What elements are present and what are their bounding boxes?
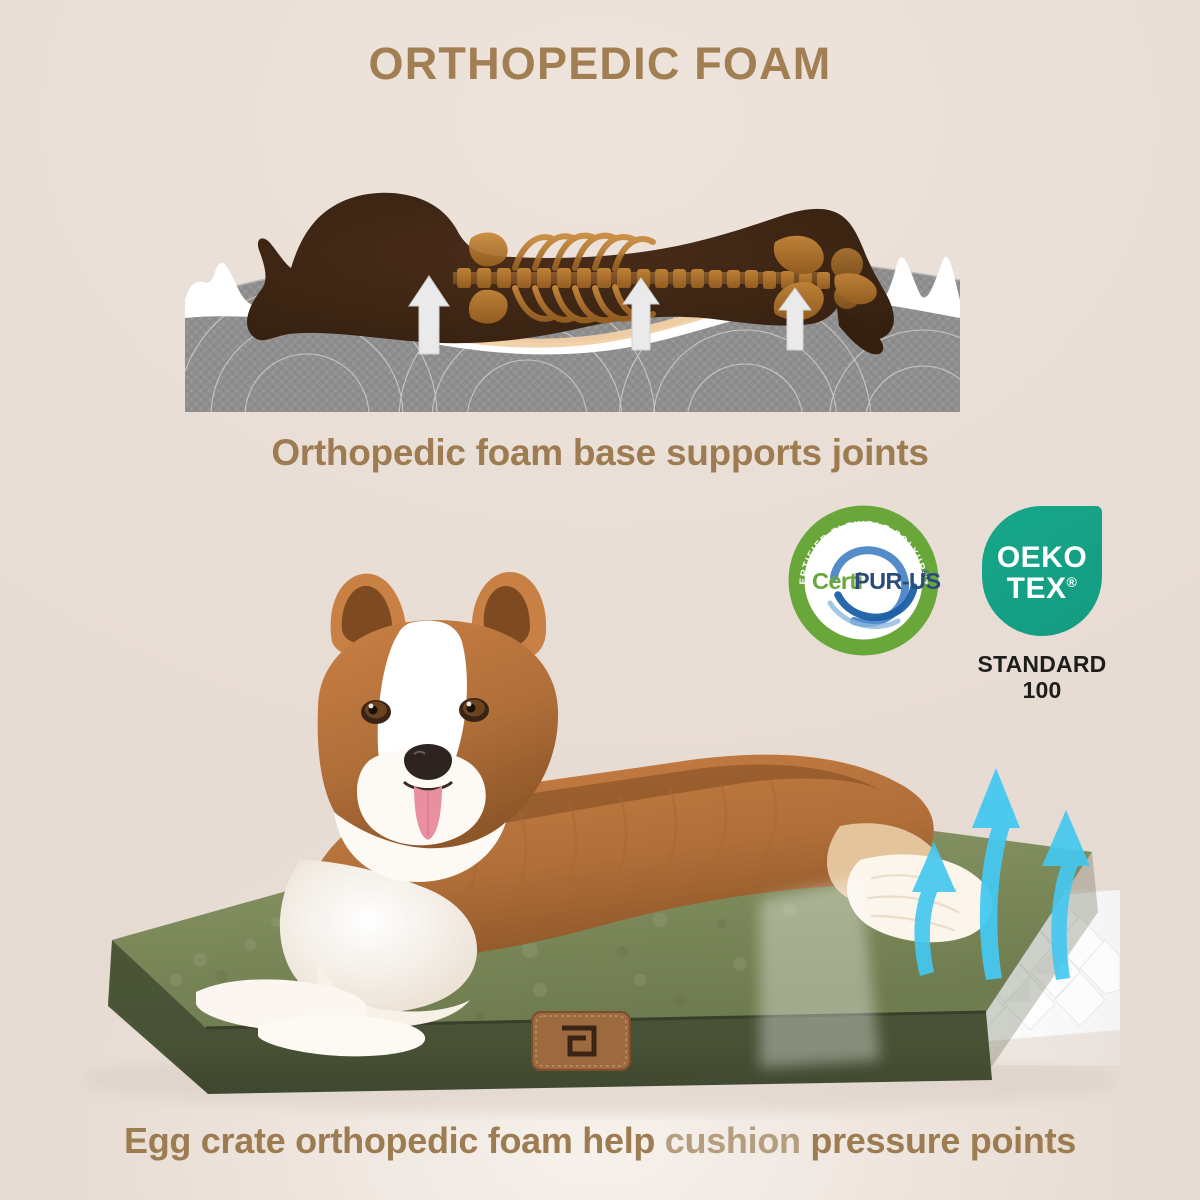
page-title: ORTHOPEDIC FOAM — [0, 38, 1200, 90]
caption-highlight: cushion — [665, 1120, 801, 1161]
leather-brand-tag — [532, 1012, 630, 1070]
bottom-caption: Egg crate orthopedic foam help cushion p… — [0, 1120, 1200, 1162]
dog-on-bed-scene — [0, 560, 1200, 1120]
caption-part2: pressure points — [801, 1120, 1076, 1161]
caption-part1: Egg crate orthopedic foam help — [124, 1120, 665, 1161]
diagram-caption: Orthopedic foam base supports joints — [0, 432, 1200, 474]
orthopedic-foam-cross-section-diagram — [185, 168, 960, 416]
product-feature-image: ORTHOPEDIC FOAM — [0, 0, 1200, 1200]
